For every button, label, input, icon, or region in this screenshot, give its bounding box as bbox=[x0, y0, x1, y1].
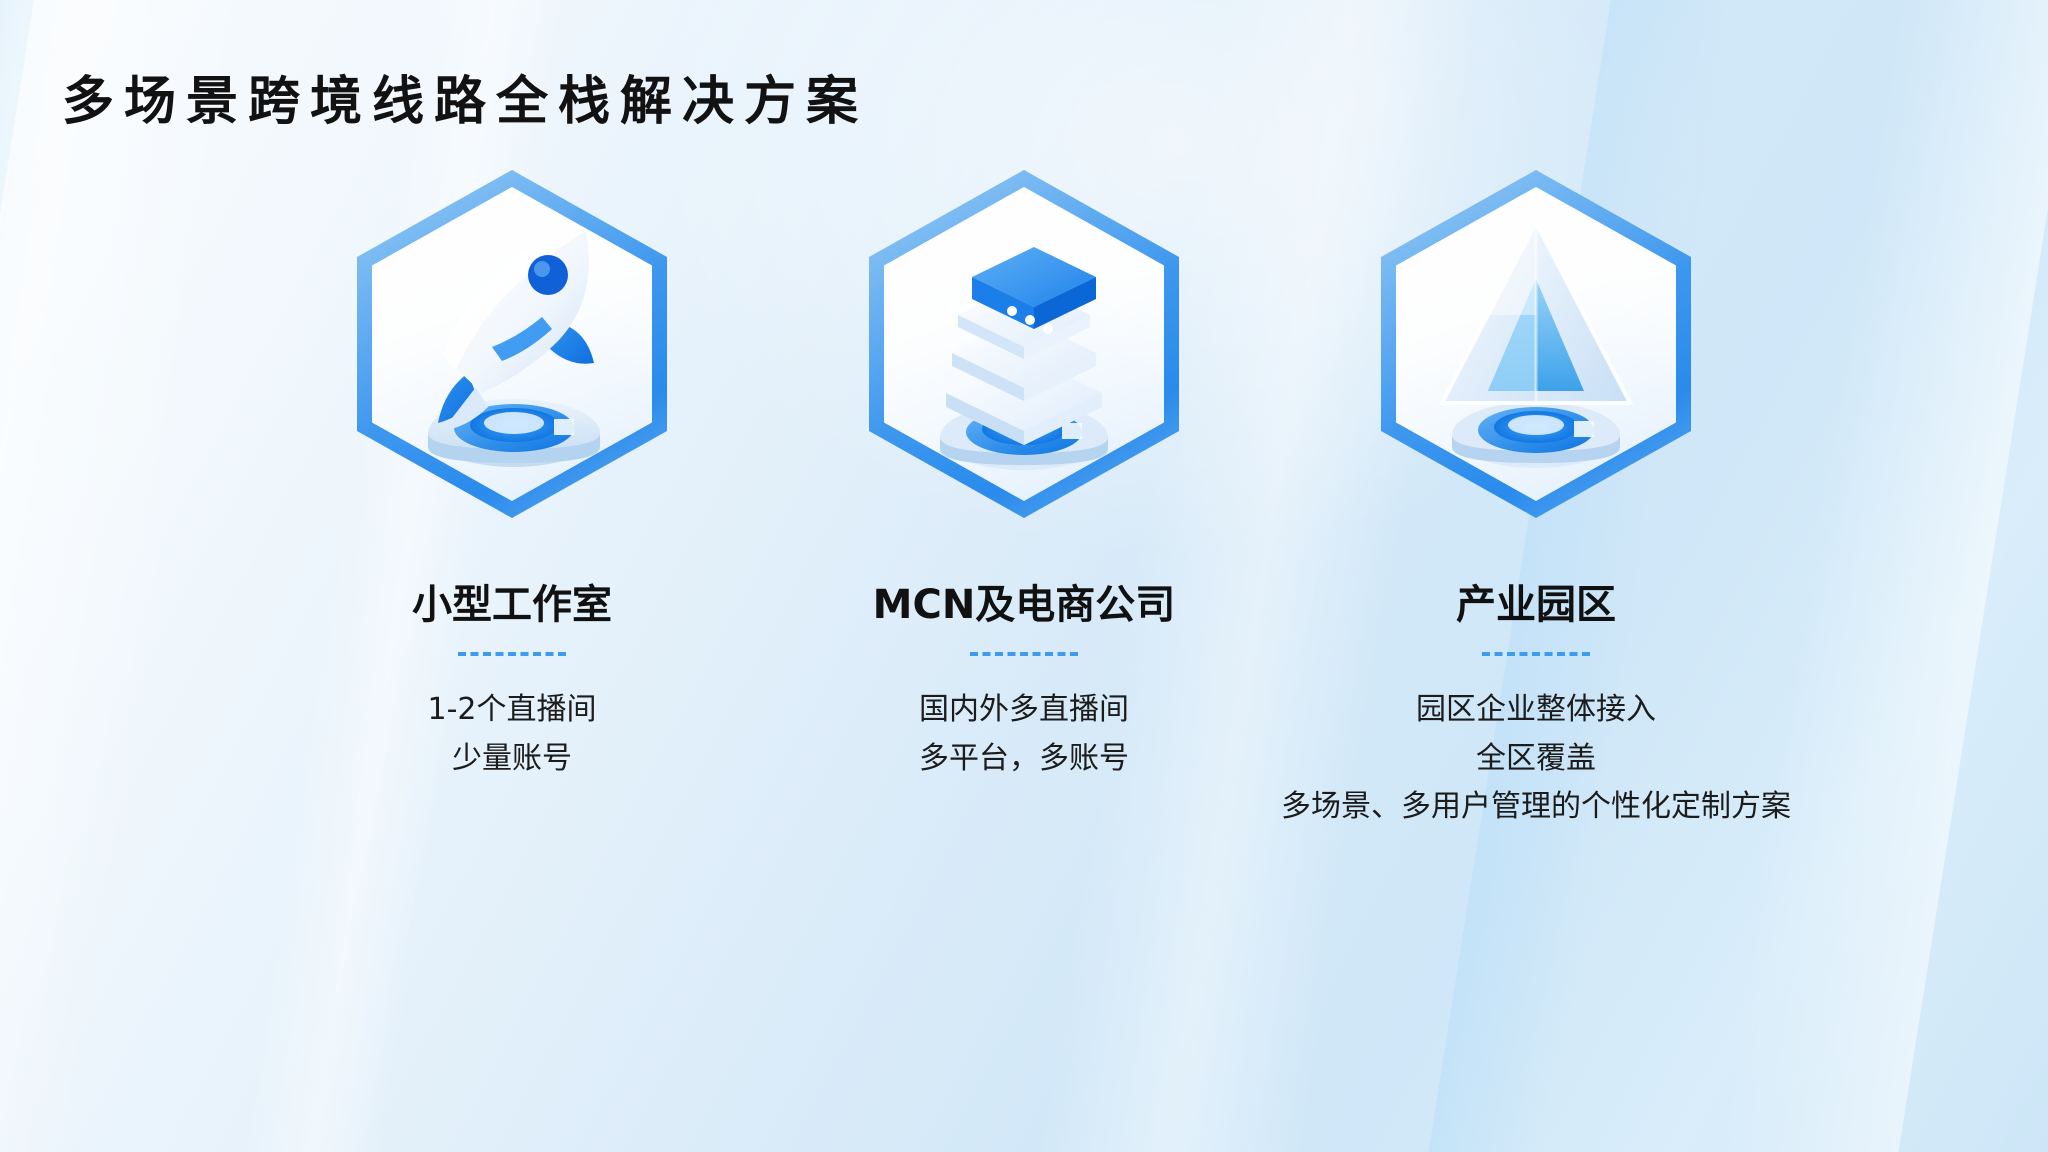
hexagon-badge bbox=[357, 170, 667, 518]
scenario-card[interactable]: 产业园区 园区企业整体接入 全区覆盖 多场景、多用户管理的个性化定制方案 bbox=[1280, 170, 1792, 832]
scenario-card[interactable]: MCN及电商公司 国内外多直播间 多平台，多账号 bbox=[768, 170, 1280, 783]
card-body: 国内外多直播间 多平台，多账号 bbox=[919, 686, 1129, 783]
page-title: 多场景跨境线路全栈解决方案 bbox=[62, 59, 868, 134]
pyramid-icon bbox=[1396, 187, 1676, 501]
server-stack-icon bbox=[884, 187, 1164, 501]
card-body: 1-2个直播间 少量账号 bbox=[428, 686, 597, 783]
card-line: 少量账号 bbox=[428, 735, 597, 784]
card-title: MCN及电商公司 bbox=[873, 572, 1176, 630]
card-body: 园区企业整体接入 全区覆盖 多场景、多用户管理的个性化定制方案 bbox=[1281, 686, 1791, 832]
card-divider bbox=[970, 652, 1078, 656]
rocket-icon bbox=[372, 187, 652, 501]
card-line: 多平台，多账号 bbox=[919, 735, 1129, 784]
card-line: 园区企业整体接入 bbox=[1281, 686, 1791, 735]
scenario-card-list: 小型工作室 1-2个直播间 少量账号 bbox=[0, 170, 2048, 832]
card-line: 1-2个直播间 bbox=[428, 686, 597, 735]
hexagon-badge bbox=[1381, 170, 1691, 518]
card-line: 国内外多直播间 bbox=[919, 686, 1129, 735]
card-divider bbox=[458, 652, 566, 656]
card-divider bbox=[1482, 652, 1590, 656]
card-line: 多场景、多用户管理的个性化定制方案 bbox=[1281, 783, 1791, 832]
hexagon-badge bbox=[869, 170, 1179, 518]
card-title: 小型工作室 bbox=[412, 572, 612, 630]
card-line: 全区覆盖 bbox=[1281, 735, 1791, 784]
card-title: 产业园区 bbox=[1456, 572, 1616, 630]
scenario-card[interactable]: 小型工作室 1-2个直播间 少量账号 bbox=[256, 170, 768, 783]
